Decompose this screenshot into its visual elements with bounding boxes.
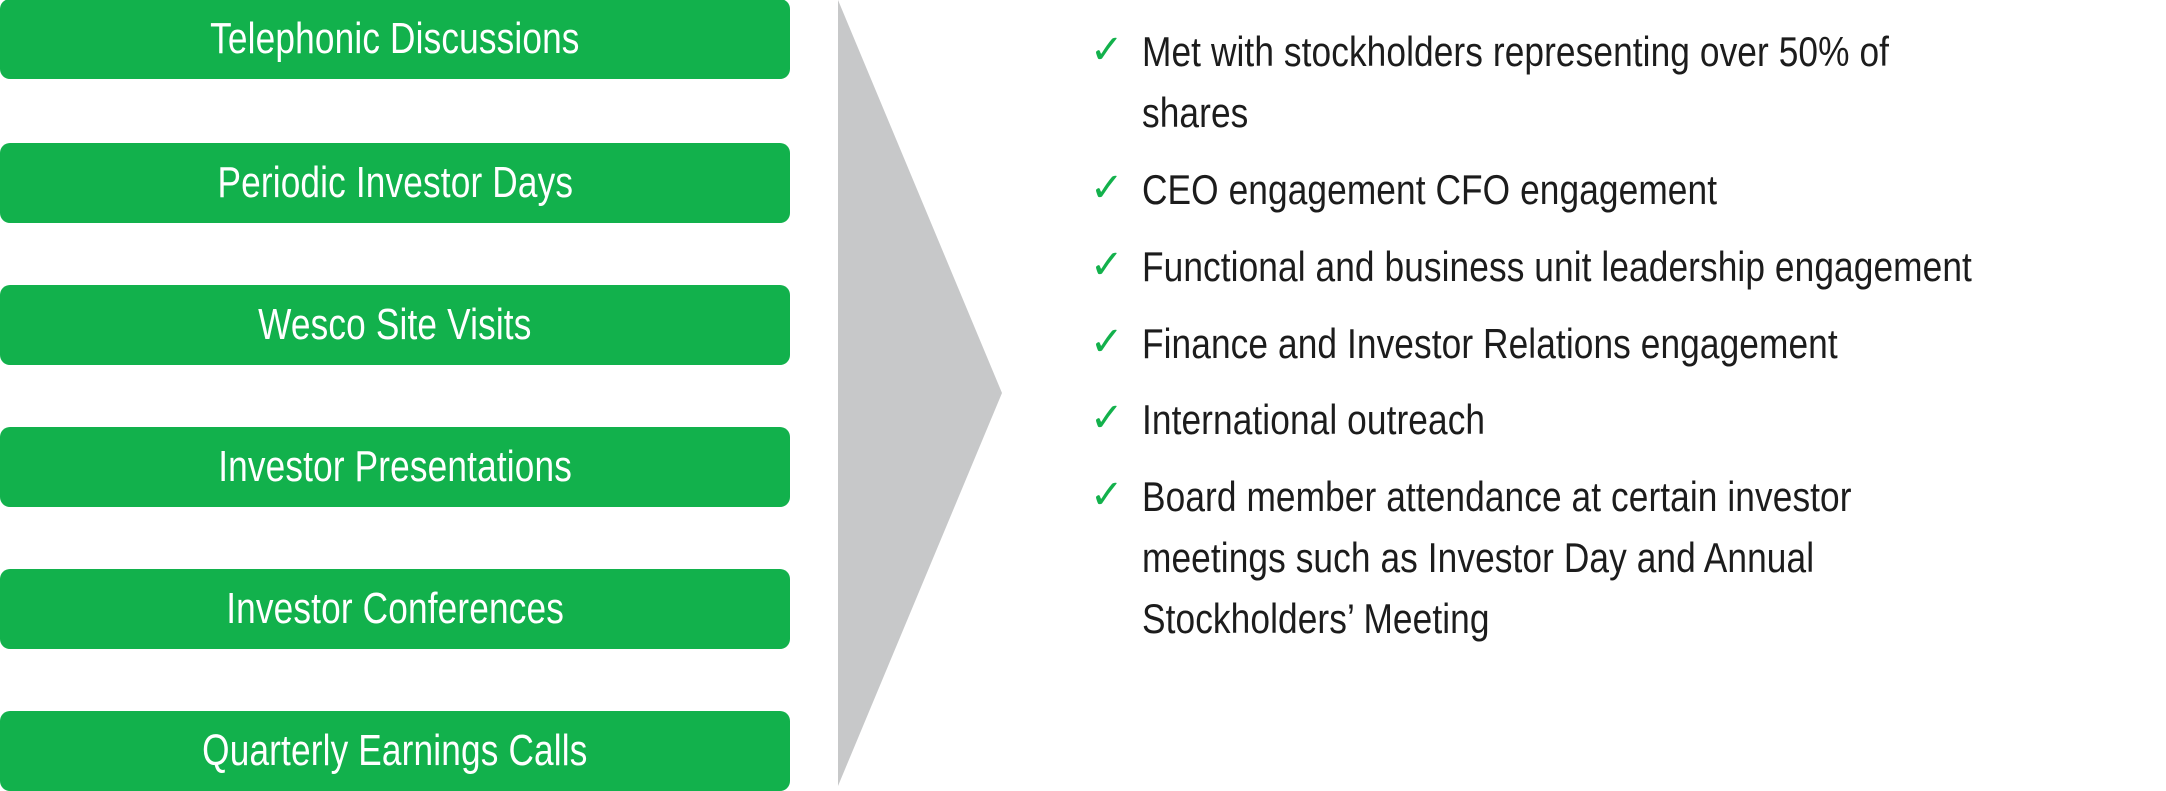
channel-box-telephonic-discussions[interactable]: Telephonic Discussions	[0, 0, 790, 79]
list-item: ✓ Board member attendance at certain inv…	[1090, 467, 2166, 650]
outcome-text: Finance and Investor Relations engagemen…	[1142, 314, 2002, 375]
outcome-text: Functional and business unit leadership …	[1142, 237, 2002, 298]
outcome-text: CEO engagement CFO engagement	[1142, 160, 2002, 221]
channel-box-periodic-investor-days[interactable]: Periodic Investor Days	[0, 143, 790, 223]
outcome-text: Met with stockholders representing over …	[1142, 22, 2002, 144]
channel-label: Investor Conferences	[226, 587, 564, 631]
check-icon: ✓	[1090, 467, 1142, 515]
channel-label: Telephonic Discussions	[210, 17, 579, 61]
outcome-text: International outreach	[1142, 390, 2002, 451]
slide-canvas: Telephonic Discussions Periodic Investor…	[0, 0, 2166, 786]
check-icon: ✓	[1090, 237, 1142, 285]
list-item: ✓ International outreach	[1090, 390, 2166, 451]
outcomes-checklist: ✓ Met with stockholders representing ove…	[1090, 22, 2166, 786]
check-icon: ✓	[1090, 22, 1142, 70]
right-arrow-icon	[838, 0, 1006, 786]
list-item: ✓ Finance and Investor Relations engagem…	[1090, 314, 2166, 375]
engagement-channel-list: Telephonic Discussions Periodic Investor…	[0, 0, 795, 786]
channel-label: Quarterly Earnings Calls	[202, 729, 587, 773]
check-icon: ✓	[1090, 390, 1142, 438]
list-item: ✓ CEO engagement CFO engagement	[1090, 160, 2166, 221]
channel-label: Investor Presentations	[218, 445, 572, 489]
channel-label: Periodic Investor Days	[217, 161, 573, 205]
channel-box-wesco-site-visits[interactable]: Wesco Site Visits	[0, 285, 790, 365]
check-icon: ✓	[1090, 160, 1142, 208]
list-item: ✓ Met with stockholders representing ove…	[1090, 22, 2166, 144]
list-item: ✓ Functional and business unit leadershi…	[1090, 237, 2166, 298]
channel-label: Wesco Site Visits	[258, 303, 531, 347]
outcome-text: Board member attendance at certain inves…	[1142, 467, 2002, 650]
channel-box-investor-conferences[interactable]: Investor Conferences	[0, 569, 790, 649]
channel-box-investor-presentations[interactable]: Investor Presentations	[0, 427, 790, 507]
channel-box-quarterly-earnings-calls[interactable]: Quarterly Earnings Calls	[0, 711, 790, 791]
check-icon: ✓	[1090, 314, 1142, 362]
